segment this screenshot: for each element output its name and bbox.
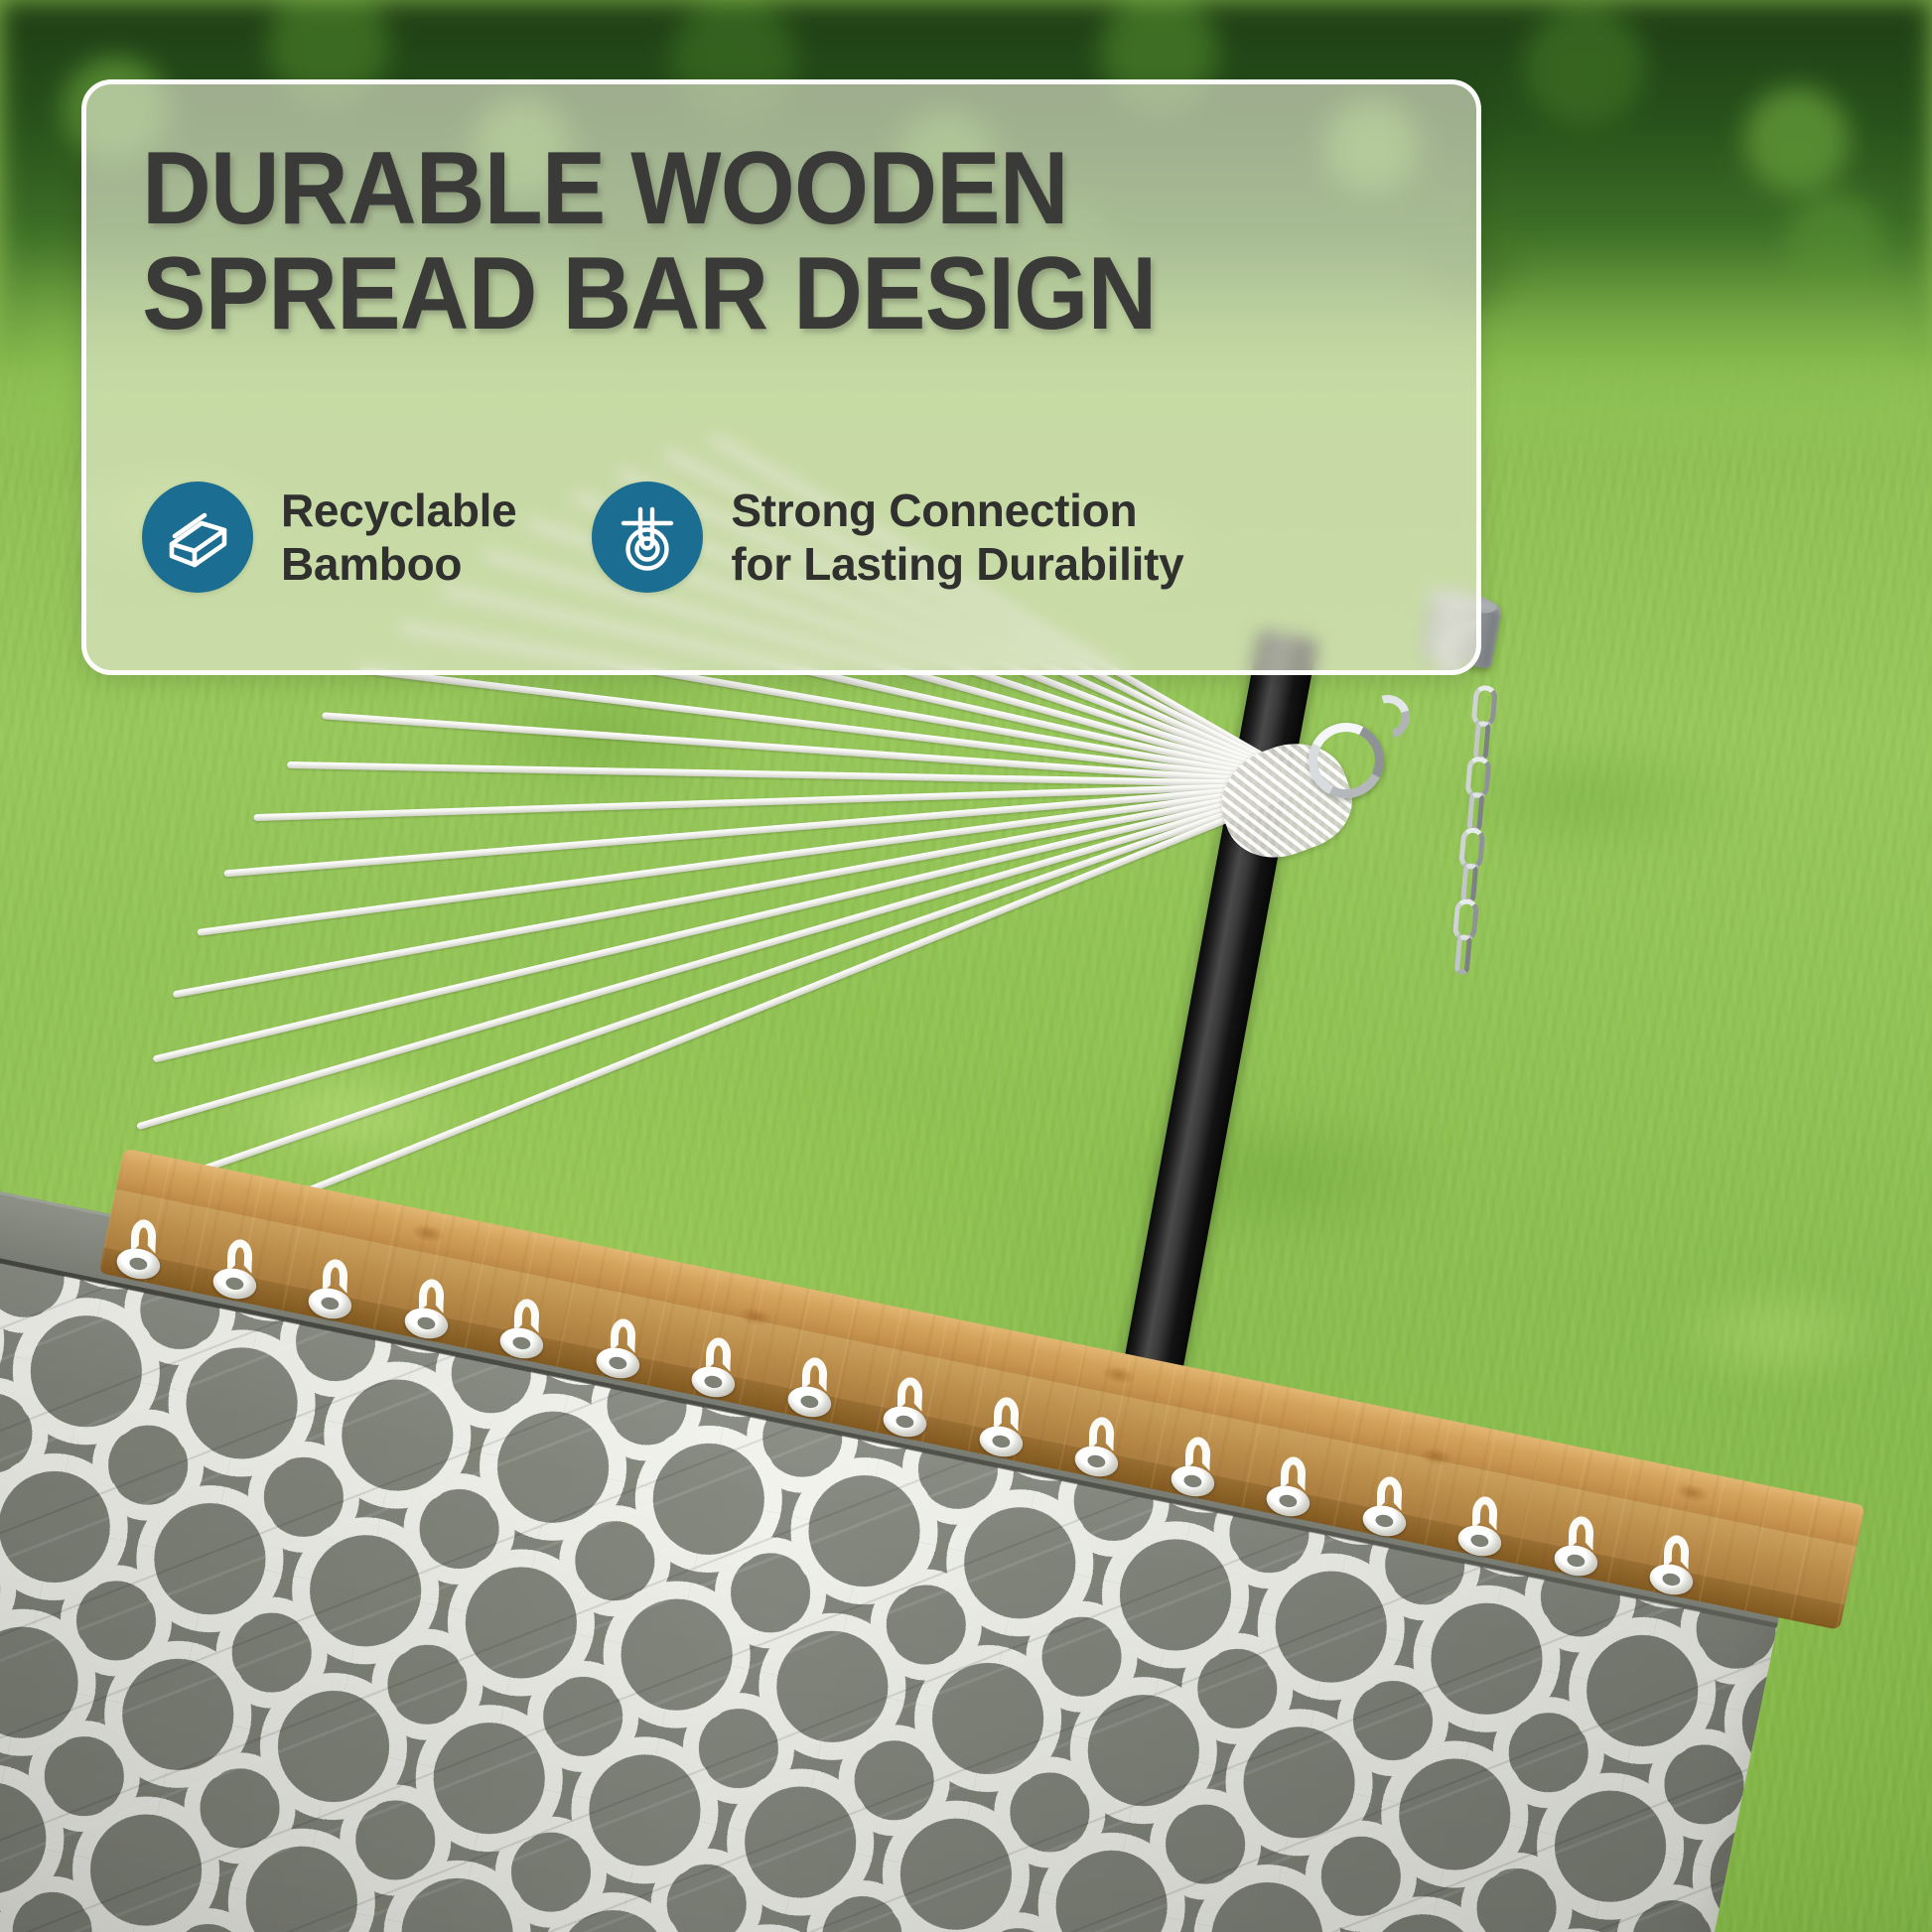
fabric-grommet <box>209 1255 261 1307</box>
fabric-grommet <box>1551 1532 1602 1584</box>
bamboo-knot <box>410 1222 447 1245</box>
fabric-grommet <box>976 1413 1028 1464</box>
fabric-grommet <box>1263 1472 1314 1524</box>
bamboo-plank-icon <box>142 482 253 593</box>
bamboo-knot <box>1418 1445 1454 1467</box>
fabric-grommet <box>1359 1492 1411 1544</box>
bamboo-knot <box>1674 1481 1711 1504</box>
fabric-grommet <box>1168 1452 1219 1504</box>
feature-label-strong-connection: Strong Connection for Lasting Durability <box>731 483 1183 592</box>
fabric-grommet <box>784 1373 836 1425</box>
info-panel: DURABLE WOODEN SPREAD BAR DESIGN <box>81 79 1481 675</box>
product-banner: DURABLE WOODEN SPREAD BAR DESIGN <box>0 0 1932 1932</box>
fabric-grommet <box>401 1295 453 1346</box>
fabric-grommet <box>688 1353 740 1405</box>
fabric-grommet <box>1071 1433 1123 1484</box>
page-title: DURABLE WOODEN SPREAD BAR DESIGN <box>142 136 1331 346</box>
hook-ring-connection-icon <box>592 482 703 593</box>
bamboo-knot <box>1100 1363 1137 1386</box>
fabric-grommet <box>880 1393 931 1445</box>
fabric-grommet <box>113 1235 165 1287</box>
fabric-grommet <box>496 1314 548 1366</box>
feature-strong-connection: Strong Connection for Lasting Durability <box>592 482 1183 593</box>
bamboo-knot <box>738 1306 774 1328</box>
hammock-rope-cord <box>123 781 1313 1199</box>
fabric-grommet <box>1454 1512 1506 1564</box>
feature-label-recyclable-bamboo: Recyclable Bamboo <box>281 483 516 592</box>
feature-recyclable-bamboo: Recyclable Bamboo <box>142 482 516 593</box>
fabric-grommet <box>305 1275 356 1326</box>
fabric-grommet <box>1646 1551 1698 1602</box>
feature-list: Recyclable Bamboo <box>142 482 1437 593</box>
fabric-grommet <box>593 1334 644 1386</box>
